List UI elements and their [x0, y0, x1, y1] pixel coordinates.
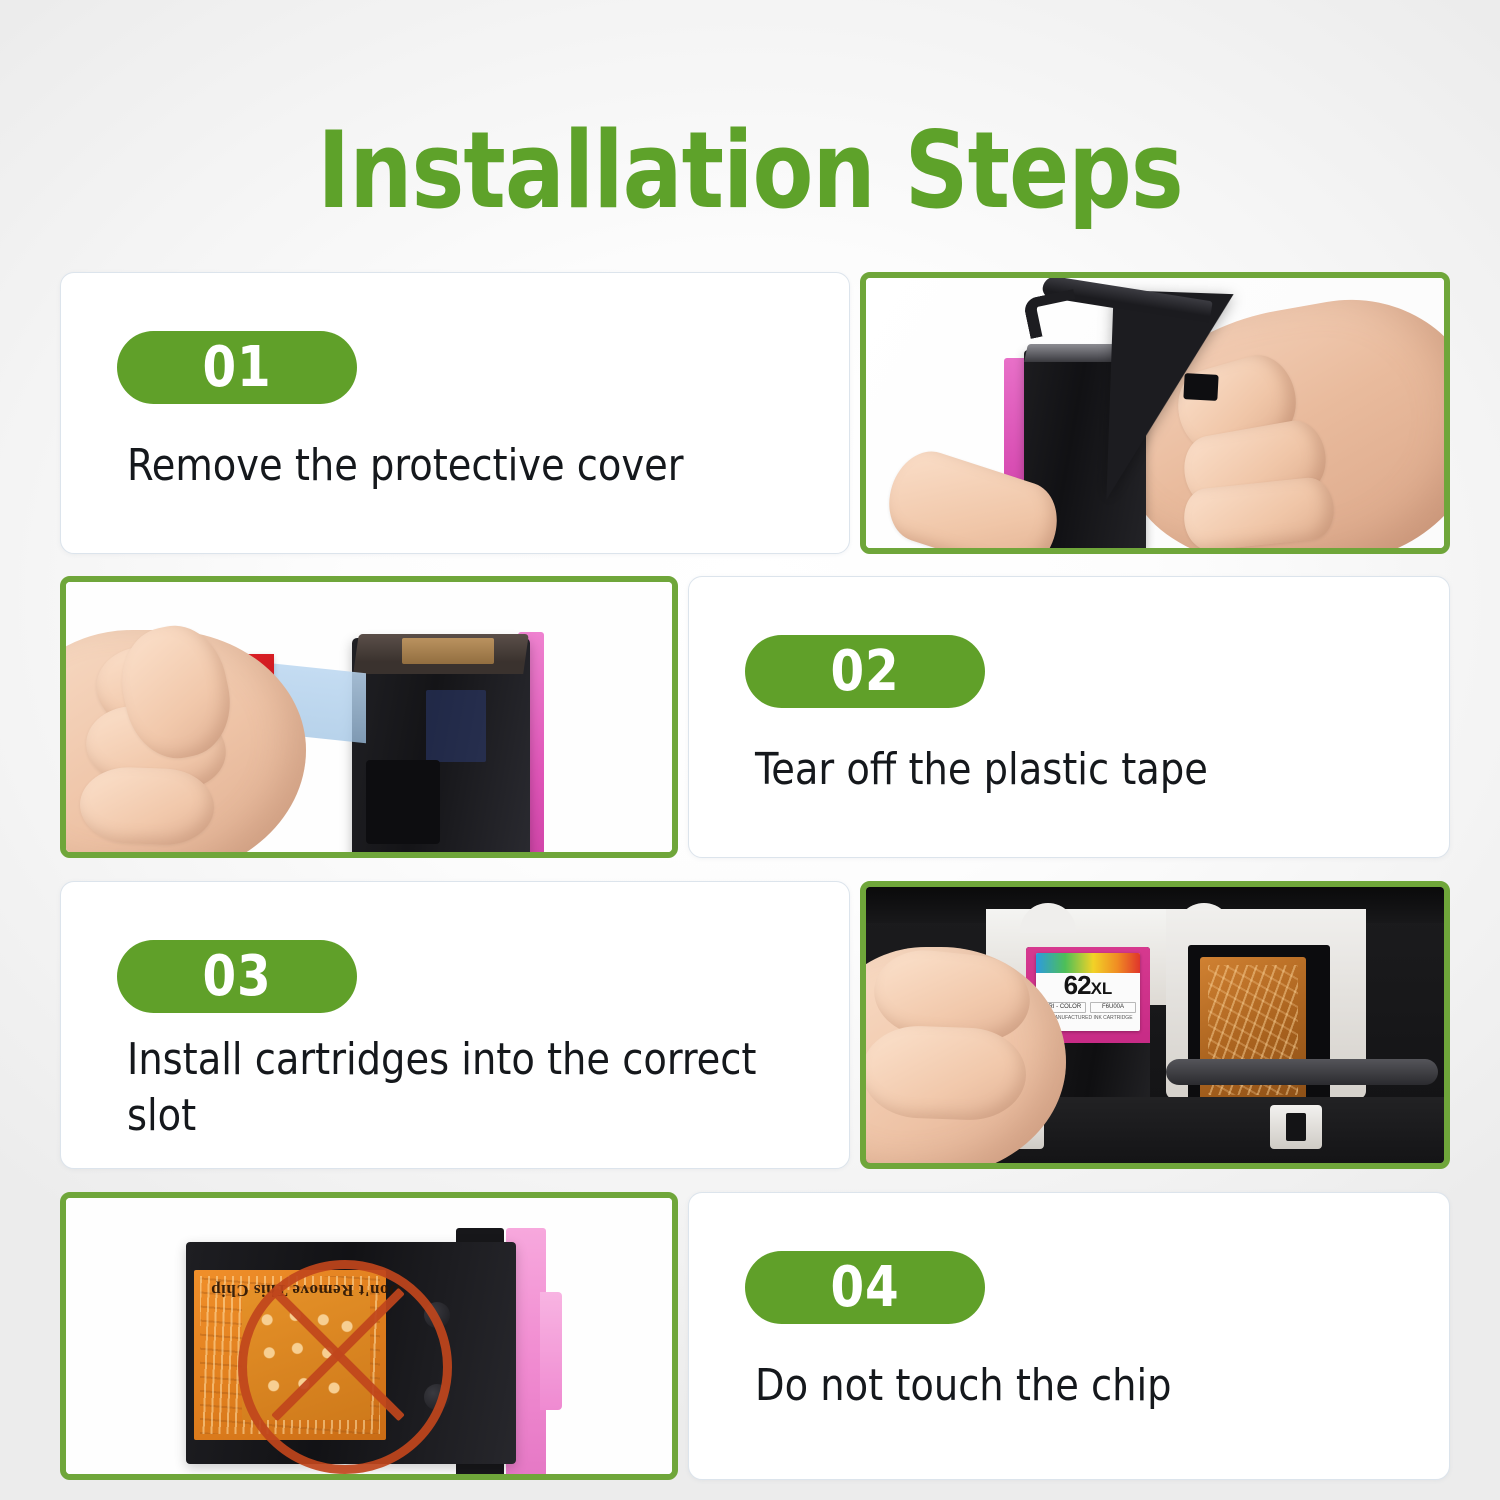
step-number-01: 01: [202, 340, 271, 396]
step-number-02: 02: [830, 644, 899, 700]
model-suffix: XL: [1091, 979, 1113, 998]
step-card-01: 01 Remove the protective cover: [60, 272, 850, 554]
step-image-frame-02: [60, 576, 678, 858]
cartridge-nozzle-plate: [402, 638, 494, 664]
clip-notch: [1183, 373, 1218, 401]
infographic-page: Installation Steps 01 Remove the protect…: [0, 0, 1500, 1500]
step-row-02: 02 Tear off the plastic tape: [60, 576, 1450, 858]
step-text-03: Install cartridges into the correct slot: [127, 1032, 789, 1144]
step-card-04: 04 Do not touch the chip: [688, 1192, 1450, 1480]
row-spacer: [678, 576, 688, 858]
step-badge-01: 01: [117, 331, 357, 404]
step-image-frame-03: 62XL TRI - COLOR F6U00A REMANUFACTURED I…: [860, 881, 1450, 1169]
cartridge-label-boxes: TRI - COLOR F6U00A: [1040, 1002, 1136, 1013]
step-text-04: Do not touch the chip: [755, 1358, 1389, 1414]
carriage-clamp-right: [1270, 1105, 1322, 1149]
step-photo-02: [66, 582, 672, 852]
label-code-box: F6U00A: [1090, 1002, 1136, 1013]
step-row-03: 03 Install cartridges into the correct s…: [60, 881, 1450, 1169]
step-row-04: Don't Remove This Chip 04 Do not touch t…: [60, 1192, 1450, 1480]
step-image-frame-01: [860, 272, 1450, 554]
step-badge-03: 03: [117, 940, 357, 1013]
step-photo-04: Don't Remove This Chip: [66, 1198, 672, 1474]
step-card-03: 03 Install cartridges into the correct s…: [60, 881, 850, 1169]
step-image-frame-04: Don't Remove This Chip: [60, 1192, 678, 1480]
row-spacer: [850, 272, 860, 554]
step-number-03: 03: [202, 949, 271, 1005]
step-text-02: Tear off the plastic tape: [755, 742, 1389, 798]
step-number-04: 04: [830, 1260, 899, 1316]
model-digits: 62: [1064, 970, 1091, 1000]
cartridge-model-number: 62XL: [1036, 972, 1140, 998]
cartridge-window: [426, 690, 486, 762]
row-spacer: [678, 1192, 688, 1480]
step-text-01: Remove the protective cover: [127, 438, 789, 494]
cartridge-lower-recess: [366, 760, 440, 844]
cartridge-pink-tab: [540, 1292, 562, 1410]
page-title: Installation Steps: [53, 118, 1448, 224]
step-photo-03: 62XL TRI - COLOR F6U00A REMANUFACTURED I…: [866, 887, 1444, 1163]
step-row-01: 01 Remove the protective cover: [60, 272, 1450, 554]
step-badge-04: 04: [745, 1251, 985, 1324]
step-photo-01: [866, 278, 1444, 548]
row-spacer: [850, 881, 860, 1169]
step-card-02: 02 Tear off the plastic tape: [688, 576, 1450, 858]
printer-roller: [1166, 1059, 1438, 1085]
finger-shape: [866, 1024, 1028, 1122]
finger-shape: [79, 766, 216, 847]
step-badge-02: 02: [745, 635, 985, 708]
